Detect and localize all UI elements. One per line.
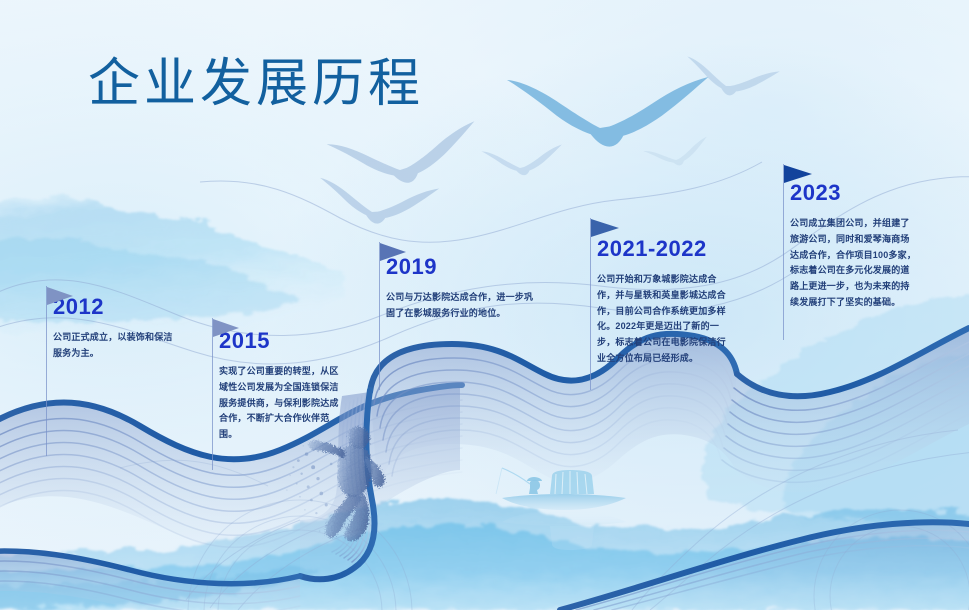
milestone-2023-year: 2023	[790, 182, 918, 204]
seagull-large	[507, 77, 709, 147]
mountain-bottom-far	[0, 498, 969, 610]
mountain-right-inner	[784, 351, 969, 522]
flagpole-2019	[379, 242, 380, 390]
flagpole-2012	[46, 286, 47, 456]
milestone-2015-text: 实现了公司重要的转型，从区域性公司发展为全国连锁保洁服务提供商，与保利影院达成合…	[219, 364, 341, 443]
particle-dust	[286, 442, 343, 532]
milestone-2023-text: 公司成立集团公司，并组建了旅游公司，同时和爱琴海商场达成合作，合作项目100多家…	[790, 216, 918, 311]
infographic-canvas: 企业发展历程 2012 公司正式成立，以装饰和保洁服务为主。 2015 实现了公…	[0, 0, 969, 610]
flag-icon-2019	[380, 243, 406, 261]
flag-icon-2023	[784, 165, 812, 183]
boat	[496, 468, 626, 550]
running-man	[286, 427, 384, 542]
milestone-2012[interactable]: 2012 公司正式成立，以装饰和保洁服务为主。	[53, 296, 181, 362]
milestone-2023[interactable]: 2023 公司成立集团公司，并组建了旅游公司，同时和爱琴海商场达成合作，合作项目…	[790, 182, 918, 311]
seagull-right	[481, 145, 563, 178]
milestone-2019-text: 公司与万达影院达成合作，进一步巩固了在影城服务行业的地位。	[386, 290, 536, 322]
mountain-right	[704, 297, 969, 524]
milestone-2012-text: 公司正式成立，以装饰和保洁服务为主。	[53, 330, 181, 362]
ribbon-lower-left-return	[0, 551, 300, 610]
flag-icon-2012	[47, 287, 73, 305]
milestone-2021-2022-text: 公司开始和万象城影院达成合作，并与星轶和英皇影城达成合作，目前公司合作系统更加多…	[597, 272, 727, 367]
milestone-2019-year: 2019	[386, 256, 536, 278]
seagull-far	[643, 137, 711, 173]
flag-icon-2015	[213, 319, 239, 337]
ribbon-right-segment	[722, 326, 969, 492]
flagpole-2021-2022	[590, 218, 591, 390]
flag-icon-2021-2022	[591, 219, 619, 237]
milestone-2019[interactable]: 2019 公司与万达影院达成合作，进一步巩固了在影城服务行业的地位。	[386, 256, 536, 322]
seagull-lower-left	[316, 176, 439, 230]
seagull-upper-right	[682, 55, 780, 103]
flagpole-2015	[212, 318, 213, 470]
flagpole-2023	[783, 164, 784, 340]
mountain-bottom-near	[0, 524, 969, 610]
milestone-2021-2022-year: 2021-2022	[597, 238, 727, 260]
ribbon-bottom-right-sweep	[560, 522, 969, 610]
mountain-bottom-left-ridge	[0, 568, 320, 610]
milestone-2015[interactable]: 2015 实现了公司重要的转型，从区域性公司发展为全国连锁保洁服务提供商，与保利…	[219, 330, 341, 443]
page-title: 企业发展历程	[88, 58, 424, 110]
milestone-2021-2022[interactable]: 2021-2022 公司开始和万象城影院达成合作，并与星轶和英皇影城达成合作，目…	[597, 238, 727, 367]
seagull-mid	[326, 121, 481, 193]
